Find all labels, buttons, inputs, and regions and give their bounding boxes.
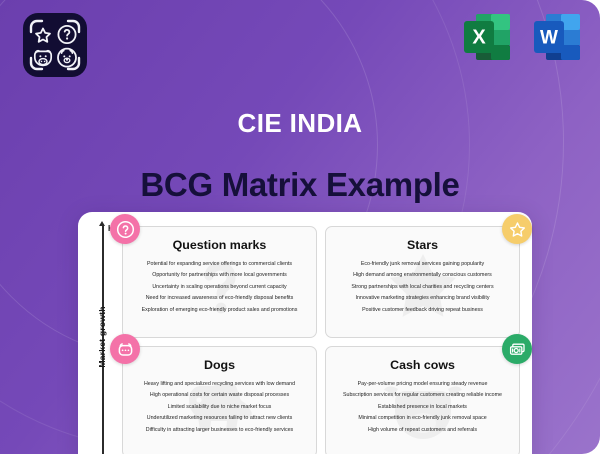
bcg-matrix-card: High Market growth Que (78, 212, 532, 454)
list-item: Heavy lifting and specialized recycling … (130, 379, 309, 390)
page-title: BCG Matrix Example (0, 166, 600, 204)
list-item: Innovative marketing strategies enhancin… (333, 293, 512, 304)
list-item: Opportunity for partnerships with more l… (130, 270, 309, 281)
list-item: High operational costs for certain waste… (130, 390, 309, 401)
quadrant-question-marks[interactable]: Question marks Potential for expanding s… (122, 226, 317, 338)
list-item: Difficulty in attracting larger business… (130, 425, 309, 436)
list-item: Exploration of emerging eco-friendly pro… (130, 305, 309, 316)
quadrant-stars[interactable]: Stars Eco-friendly junk removal services… (325, 226, 520, 338)
quadrant-bullet-list: Pay-per-volume pricing model ensuring st… (326, 379, 519, 436)
svg-text:W: W (540, 28, 558, 49)
list-item: Established presence in local markets (333, 402, 512, 413)
list-item: Limited scalability due to niche market … (130, 402, 309, 413)
quadrant-grid: Question marks Potential for expanding s… (122, 226, 520, 454)
list-item: Strong partnerships with local charities… (333, 282, 512, 293)
bcg-matrix-logo-icon (22, 12, 88, 78)
excel-icon[interactable]: X (458, 8, 516, 66)
quadrant-title: Dogs (204, 358, 235, 372)
quadrant-bullet-list: Heavy lifting and specialized recycling … (123, 379, 316, 436)
list-item: Positive customer feedback driving repea… (333, 305, 512, 316)
quadrant-dogs[interactable]: Dogs Heavy lifting and specialized recyc… (122, 346, 317, 454)
badge-star-icon (502, 214, 532, 244)
list-item: Need for increased awareness of eco-frie… (130, 293, 309, 304)
badge-question-mark-icon (110, 214, 140, 244)
list-item: Subscription services for regular custom… (333, 390, 512, 401)
list-item: Eco-friendly junk removal services gaini… (333, 259, 512, 270)
list-item: Pay-per-volume pricing model ensuring st… (333, 379, 512, 390)
badge-money-icon (502, 334, 532, 364)
list-item: Minimal competition in eco-friendly junk… (333, 413, 512, 424)
quadrant-title: Stars (407, 238, 438, 252)
svg-text:X: X (472, 27, 486, 49)
page-kicker: CIE INDIA (0, 108, 600, 139)
quadrant-title: Cash cows (390, 358, 455, 372)
office-app-icons: X W (458, 8, 586, 66)
list-item: Potential for expanding service offering… (130, 259, 309, 270)
quadrant-cash-cows[interactable]: Cash cows Pay-per-volume pricing model e… (325, 346, 520, 454)
slide-canvas: X W CIE INDIA BCG Matrix Example High Ma… (0, 0, 600, 454)
word-icon[interactable]: W (528, 8, 586, 66)
list-item: High volume of repeat customers and refe… (333, 425, 512, 436)
badge-dog-icon (110, 334, 140, 364)
list-item: Uncertainty in scaling operations beyond… (130, 282, 309, 293)
quadrant-bullet-list: Potential for expanding service offering… (123, 259, 316, 316)
quadrant-title: Question marks (173, 238, 267, 252)
axis-title-label: Market growth (97, 297, 107, 377)
quadrant-bullet-list: Eco-friendly junk removal services gaini… (326, 259, 519, 316)
list-item: Underutilized marketing resources failin… (130, 413, 309, 424)
list-item: High demand among environmentally consci… (333, 270, 512, 281)
